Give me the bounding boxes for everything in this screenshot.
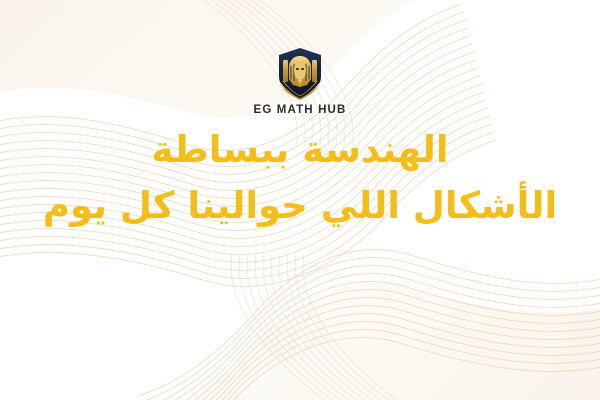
logo-tagline: · · · · · bbox=[283, 119, 316, 123]
logo-wordmark: EG MATH HUB bbox=[254, 105, 347, 117]
headline: الهندسة ببساطة الأشكال اللي حوالينا كل ي… bbox=[0, 131, 600, 224]
headline-line-2: الأشكال اللي حوالينا كل يوم bbox=[0, 187, 600, 224]
headline-line-1: الهندسة ببساطة bbox=[0, 131, 600, 168]
title-card: EG MATH HUB · · · · · الهندسة ببساطة الأ… bbox=[0, 0, 600, 400]
pharaoh-emblem-icon bbox=[271, 46, 329, 102]
brand-logo: EG MATH HUB · · · · · bbox=[0, 46, 600, 122]
